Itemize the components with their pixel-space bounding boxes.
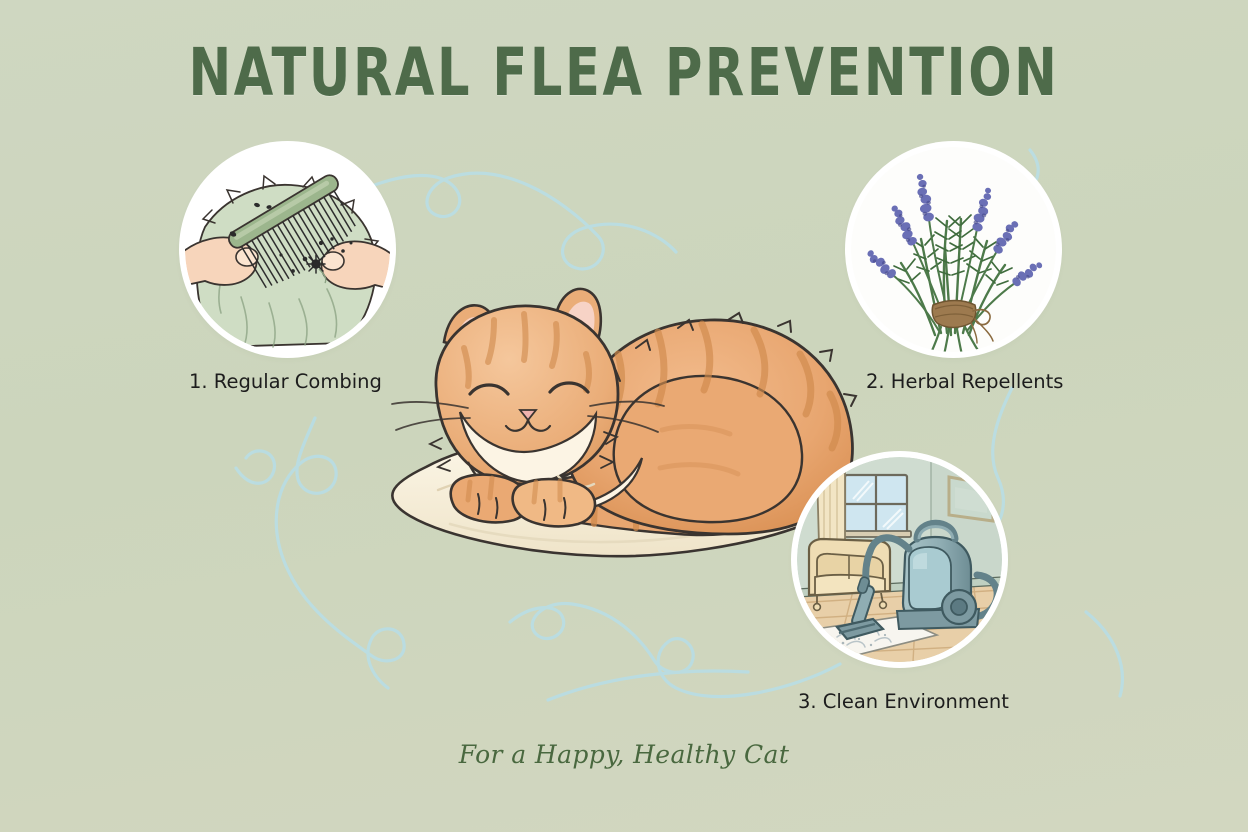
cat-paws xyxy=(451,475,595,527)
step-2-illustration-herbs xyxy=(851,147,1056,352)
footer-tagline: For a Happy, Healthy Cat xyxy=(0,740,1248,769)
step-3-illustration-vacuum xyxy=(797,457,1002,662)
page-title: NATURAL FLEA PREVENTION xyxy=(87,34,1160,111)
step-3-caption: 3. Clean Environment xyxy=(798,690,1009,713)
step-1-caption: 1. Regular Combing xyxy=(189,370,382,393)
step-2-caption: 2. Herbal Repellents xyxy=(866,370,1063,393)
window xyxy=(841,475,911,537)
infographic-poster: NATURAL FLEA PREVENTION xyxy=(0,0,1248,832)
step-1-illustration-comb xyxy=(185,147,390,352)
